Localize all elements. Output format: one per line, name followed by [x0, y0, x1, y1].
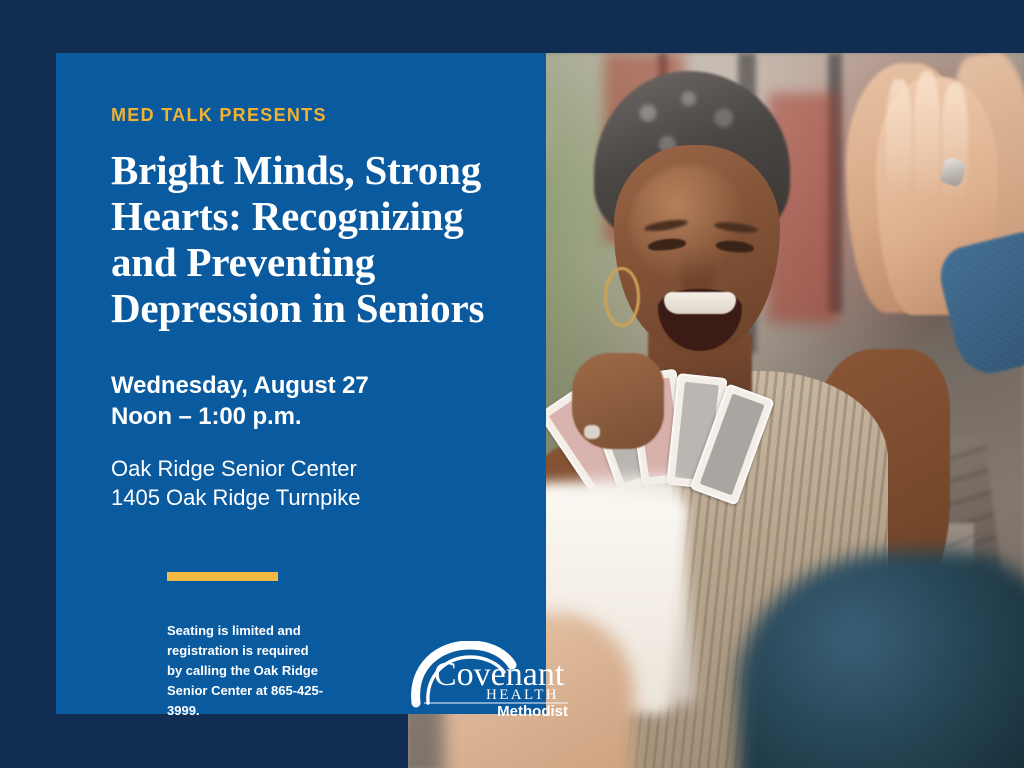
series-eyebrow: MED TALK PRESENTS [111, 105, 510, 126]
logo-affiliate-text: Methodist [497, 703, 568, 717]
hand-ring [584, 425, 600, 439]
covenant-health-logo: Covenant HEALTH Methodist [408, 641, 573, 717]
event-flyer: Smiling senior woman playing cards outdo… [0, 0, 1024, 768]
venue-name: Oak Ridge Senior Center [111, 454, 510, 483]
content-panel: MED TALK PRESENTS Bright Minds, Strong H… [56, 53, 546, 714]
hoop-earring [604, 267, 640, 327]
page-title: Bright Minds, Strong Hearts: Recognizing… [111, 148, 510, 332]
finger [914, 71, 940, 203]
registration-note: Seating is limited and registration is r… [167, 621, 327, 721]
event-time: Noon – 1:00 p.m. [111, 401, 510, 432]
gold-divider [167, 572, 278, 581]
venue-address: 1405 Oak Ridge Turnpike [111, 483, 510, 512]
event-date: Wednesday, August 27 [111, 370, 510, 401]
teeth [664, 292, 736, 314]
finger [886, 79, 912, 199]
content-block: MED TALK PRESENTS Bright Minds, Strong H… [111, 105, 510, 512]
logo-brand-sub-text: HEALTH [486, 687, 559, 703]
